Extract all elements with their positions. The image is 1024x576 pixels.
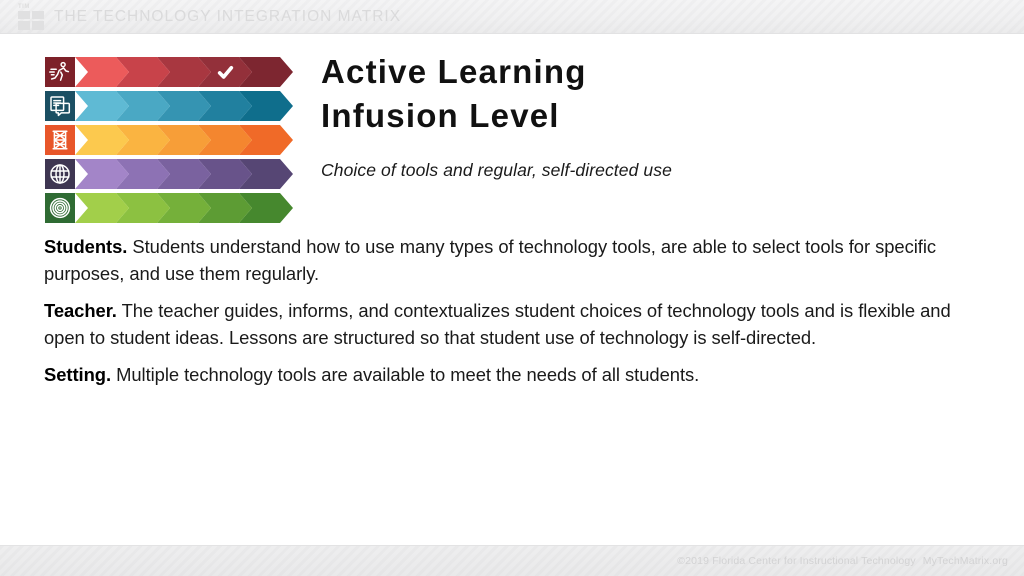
title-block: Active Learning Infusion Level Choice of…: [321, 50, 981, 182]
footer-band: ©2019 Florida Center for Instructional T…: [0, 545, 1024, 576]
tim-logo-square-3: [18, 21, 30, 30]
slide-root: TIM THE TECHNOLOGY INTEGRATION MATRIX Ac…: [0, 0, 1024, 576]
tim-logo: TIM: [18, 4, 44, 30]
tim-logo-wordmark: TIM: [18, 4, 44, 11]
matrix-row-active: [45, 57, 293, 87]
header-band: TIM THE TECHNOLOGY INTEGRATION MATRIX: [0, 0, 1024, 34]
matrix-row-authentic: [45, 159, 293, 189]
document-discussion-icon: [45, 91, 75, 121]
check-icon: [217, 64, 234, 81]
globe-icon: [45, 159, 75, 189]
target-rings-icon: [45, 193, 75, 223]
paragraph-lead: Setting.: [44, 364, 111, 385]
running-person-icon: [45, 57, 75, 87]
paragraph-setting: Setting. Multiple technology tools are a…: [44, 362, 996, 389]
chevron-track: [75, 193, 293, 223]
footer-credit: ©2019 Florida Center for Instructional T…: [677, 555, 1008, 567]
chevron-track: [75, 91, 293, 121]
paragraph-text: Multiple technology tools are available …: [111, 364, 699, 385]
footer-site-link[interactable]: MyTechMatrix.org: [923, 555, 1008, 567]
lattice-tower-icon: [45, 125, 75, 155]
footer-copyright: ©2019 Florida Center for Instructional T…: [677, 555, 915, 567]
paragraph-lead: Students.: [44, 236, 127, 257]
tim-logo-square-2: [32, 11, 44, 20]
matrix-row-constructive: [45, 125, 293, 155]
matrix-row-goal-directed: [45, 193, 293, 223]
tim-logo-square-1: [18, 11, 30, 20]
body-block: Students. Students understand how to use…: [44, 234, 996, 389]
paragraph-students: Students. Students understand how to use…: [44, 234, 996, 287]
chevron-track: [75, 159, 293, 189]
page-subtitle: Choice of tools and regular, self-direct…: [321, 158, 981, 182]
matrix-row-collaborative: [45, 91, 293, 121]
paragraph-text: The teacher guides, informs, and context…: [44, 300, 951, 348]
paragraph-text: Students understand how to use many type…: [44, 236, 936, 284]
tim-logo-square-4: [32, 21, 44, 30]
paragraph-lead: Teacher.: [44, 300, 117, 321]
chevron-track: [75, 57, 293, 87]
page-title: Active Learning Infusion Level: [321, 50, 981, 138]
chevron-track: [75, 125, 293, 155]
header-title: THE TECHNOLOGY INTEGRATION MATRIX: [54, 8, 401, 26]
tim-logo-grid: [18, 11, 44, 30]
tim-matrix-graphic: [45, 57, 293, 223]
paragraph-teacher: Teacher. The teacher guides, informs, an…: [44, 298, 996, 351]
